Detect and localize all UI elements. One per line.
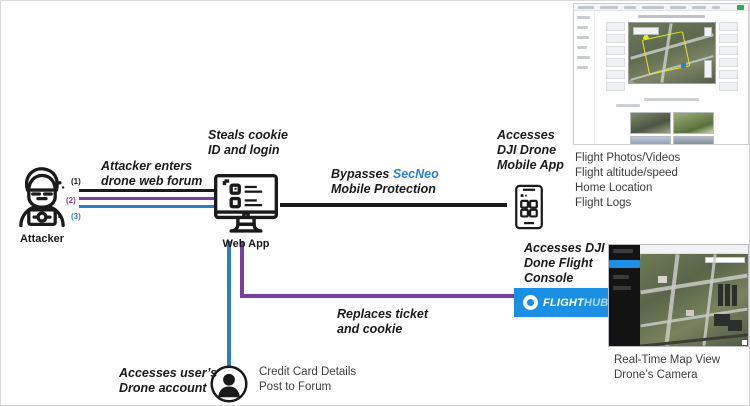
- bypass-prefix-text: Bypasses: [331, 167, 393, 181]
- webapp-caption: Web App: [204, 238, 288, 250]
- label-accesses-flight-console-line3: Console: [524, 271, 605, 286]
- label-accesses-flight-console-line1: Accesses DJI: [524, 241, 605, 256]
- flighthub-mark-icon: [523, 295, 538, 310]
- console-caption-line1: Real-Time Map View: [614, 353, 720, 368]
- console-caption-line2: Drone’s Camera: [614, 368, 720, 383]
- flow-line-1-black: [79, 189, 214, 192]
- label-accesses-drone-account-line2: Drone account: [119, 381, 217, 396]
- list-item: Flight Logs: [575, 196, 680, 211]
- label-accesses-drone-account: Accesses user’s Drone account: [119, 366, 217, 396]
- screenshot-map-legend: [644, 98, 700, 101]
- flighthub-logo-primary: FLIGHT: [543, 297, 584, 309]
- screenshot-photos-heading: [616, 104, 640, 107]
- label-accesses-flight-console: Accesses DJI Done Flight Console: [524, 241, 605, 285]
- console-sidebar: [609, 245, 640, 346]
- flighthub-logo-icon: FLIGHTHUB: [514, 288, 618, 317]
- console-caption: Real-Time Map View Drone’s Camera: [614, 353, 720, 383]
- label-accesses-mobile-app-line3: Mobile App: [497, 158, 564, 173]
- hacker-icon: [9, 161, 75, 227]
- console-search-box[interactable]: [705, 257, 745, 263]
- flow-line-webapp-purple-horizontal: [240, 294, 514, 298]
- flow-line-webapp-to-mobile: [280, 203, 507, 207]
- screenshot-toolbar: [574, 4, 748, 11]
- flighthub-console-screenshot: [608, 244, 749, 347]
- secneo-brand-text: SecNeo: [393, 167, 439, 181]
- screenshot-photo-1: [630, 112, 671, 134]
- screenshot-stats-left: [606, 22, 625, 94]
- label-attacker-enters-forum-line1: Attacker enters: [101, 159, 202, 174]
- flow-line-webapp-blue-vertical: [227, 241, 231, 369]
- label-bypasses-secneo: Bypasses SecNeo Mobile Protection: [331, 167, 439, 197]
- list-item: Credit Card Details: [259, 365, 356, 380]
- attack-flow-diagram: (1) (2) (3) Attacker Attacker enters dro…: [0, 0, 750, 406]
- attacker-caption: Attacker: [9, 233, 75, 245]
- screenshot-flight-title: [638, 15, 706, 18]
- list-item: Flight altitude/speed: [575, 166, 680, 181]
- screenshot-photo-4: [673, 136, 714, 145]
- label-replaces-ticket-line2: and cookie: [337, 322, 428, 337]
- label-accesses-mobile-app: Accesses DJI Drone Mobile App: [497, 128, 564, 172]
- flighthub-logo-secondary: HUB: [584, 297, 608, 309]
- screenshot-photo-2: [673, 112, 714, 134]
- monitor-icon: [212, 173, 280, 235]
- label-replaces-ticket-line1: Replaces ticket: [337, 307, 428, 322]
- label-accesses-mobile-app-line2: DJI Drone: [497, 143, 564, 158]
- label-attacker-enters-forum: Attacker enters drone web forum: [101, 159, 202, 189]
- flow-line-2-purple: [79, 197, 214, 200]
- label-accesses-drone-account-line1: Accesses user’s: [119, 366, 217, 381]
- label-replaces-ticket: Replaces ticket and cookie: [337, 307, 428, 337]
- label-attacker-enters-forum-line2: drone web forum: [101, 174, 202, 189]
- console-sidebar-active-item[interactable]: [609, 260, 640, 268]
- label-steals-cookie-line1: Steals cookie: [208, 128, 288, 143]
- list-item: Flight Photos/Videos: [575, 151, 680, 166]
- screenshot-photo-grid: [630, 112, 714, 145]
- list-item: Home Location: [575, 181, 680, 196]
- console-satellite-map: [640, 254, 748, 346]
- dji-mobile-app-screenshot: [573, 3, 749, 145]
- mobile-app-outcome-list: Flight Photos/Videos Flight altitude/spe…: [575, 151, 680, 211]
- screenshot-photo-3: [630, 136, 671, 145]
- label-accesses-mobile-app-line1: Accesses: [497, 128, 564, 143]
- screenshot-left-rail: [574, 11, 595, 144]
- smartphone-icon: [514, 184, 544, 230]
- label-bypasses-secneo-line1: Bypasses SecNeo: [331, 167, 439, 182]
- screenshot-stats-right: [719, 22, 738, 94]
- user-account-outcome-list: Credit Card Details Post to Forum: [259, 365, 356, 395]
- label-steals-cookie-line2: ID and login: [208, 143, 288, 158]
- screenshot-flight-map: [628, 22, 716, 84]
- flow-line-3-blue: [79, 205, 214, 208]
- console-top-bar: [640, 245, 748, 254]
- list-item: Post to Forum: [259, 380, 356, 395]
- label-bypasses-secneo-line2: Mobile Protection: [331, 182, 439, 197]
- label-steals-cookie: Steals cookie ID and login: [208, 128, 288, 158]
- label-accesses-flight-console-line2: Done Flight: [524, 256, 605, 271]
